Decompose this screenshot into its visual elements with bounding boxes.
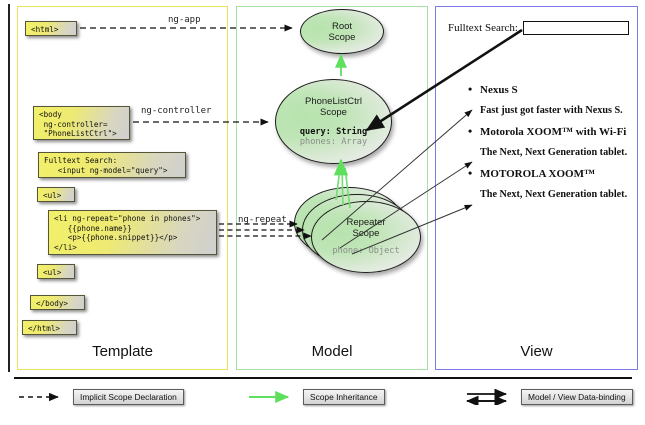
edge-label-ng-repeat: ng-repeat	[238, 215, 287, 225]
repeater-scope-prop-phone: phone: Object	[332, 246, 399, 257]
legend: Implicit Scope Declaration Scope Inherit…	[0, 386, 645, 416]
green-arrow-icon	[248, 391, 296, 403]
model-ellipse-root-scope[interactable]: Root Scope	[300, 9, 384, 54]
model-ellipse-phonelistctrl-scope[interactable]: PhoneListCtrl Scope query: String phones…	[275, 79, 392, 164]
double-arrow-icon	[466, 389, 514, 405]
view-phone-snippet: Fast just got faster with Nexus S.	[466, 103, 629, 118]
view-fulltext-search-row: Fulltext Search:	[448, 21, 629, 35]
root-scope-title-line2: Scope	[329, 32, 356, 43]
legend-label-implicit-scope-declaration: Implicit Scope Declaration	[73, 389, 184, 405]
model-ellipse-repeater-scope[interactable]: Repeater Scope phone: Object	[311, 201, 421, 273]
root-scope-title-line1: Root	[332, 21, 352, 32]
template-box-html-open-tag[interactable]: <html>	[25, 21, 77, 36]
repeater-scope-title-line1: Repeater	[346, 217, 385, 228]
template-box-li-ng-repeat[interactable]: <li ng-repeat="phone in phones"> {{phone…	[48, 210, 217, 255]
template-box-ul-open-tag[interactable]: <ul>	[37, 187, 75, 202]
template-box-body-close-tag[interactable]: </body>	[30, 295, 85, 310]
edge-label-ng-controller: ng-controller	[141, 106, 211, 116]
phonelistctrl-scope-prop-phones: phones: Array	[300, 137, 367, 148]
view-phone-snippet: The Next, Next Generation tablet.	[466, 187, 629, 202]
legend-item-model-view-data-binding: Model / View Data-binding	[466, 389, 633, 405]
panel-label-view: View	[436, 333, 637, 369]
phonelistctrl-scope-title-line1: PhoneListCtrl	[305, 96, 362, 107]
diagram-canvas: Template <html> <body ng-controller= "Ph…	[0, 0, 645, 425]
legend-label-scope-inheritance: Scope Inheritance	[303, 389, 385, 405]
panel-view: Fulltext Search: Nexus S Fast just got f…	[435, 6, 638, 370]
view-phone-snippet: The Next, Next Generation tablet.	[466, 145, 629, 160]
view-content: Fulltext Search: Nexus S Fast just got f…	[436, 7, 637, 333]
repeater-scope-title-line2: Scope	[353, 228, 380, 239]
view-phone-list: Nexus S Fast just got faster with Nexus …	[466, 83, 629, 209]
panel-label-template: Template	[18, 333, 227, 369]
view-phone-name: Nexus S	[466, 83, 629, 98]
dashed-arrow-icon	[18, 391, 66, 403]
view-phone-item[interactable]: Nexus S Fast just got faster with Nexus …	[466, 83, 629, 118]
view-phone-item[interactable]: Motorola XOOM™ with Wi-Fi The Next, Next…	[466, 125, 629, 160]
edge-label-ng-app: ng-app	[168, 15, 201, 25]
template-box-ul-close-tag[interactable]: <ul>	[37, 264, 75, 279]
view-phone-item[interactable]: MOTOROLA XOOM™ The Next, Next Generation…	[466, 167, 629, 202]
left-vertical-rule	[8, 4, 10, 372]
panel-label-model: Model	[237, 333, 427, 369]
legend-item-scope-inheritance: Scope Inheritance	[248, 389, 385, 405]
legend-label-model-view-data-binding: Model / View Data-binding	[521, 389, 633, 405]
legend-item-implicit-scope-declaration: Implicit Scope Declaration	[18, 389, 184, 405]
template-box-fulltext-search-markup[interactable]: Fulltext Search: <input ng-model="query"…	[38, 152, 186, 178]
legend-divider	[14, 377, 632, 379]
phonelistctrl-scope-title-line2: Scope	[320, 107, 347, 118]
view-phone-name: Motorola XOOM™ with Wi-Fi	[466, 125, 629, 140]
phonelistctrl-scope-prop-query: query: String	[300, 127, 367, 138]
fulltext-search-input[interactable]	[523, 21, 629, 35]
fulltext-search-label: Fulltext Search:	[448, 22, 518, 34]
view-phone-name: MOTOROLA XOOM™	[466, 167, 629, 182]
template-box-body-open-tag[interactable]: <body ng-controller= "PhoneListCtrl">	[33, 106, 130, 140]
template-box-html-close-tag[interactable]: </html>	[22, 320, 77, 335]
